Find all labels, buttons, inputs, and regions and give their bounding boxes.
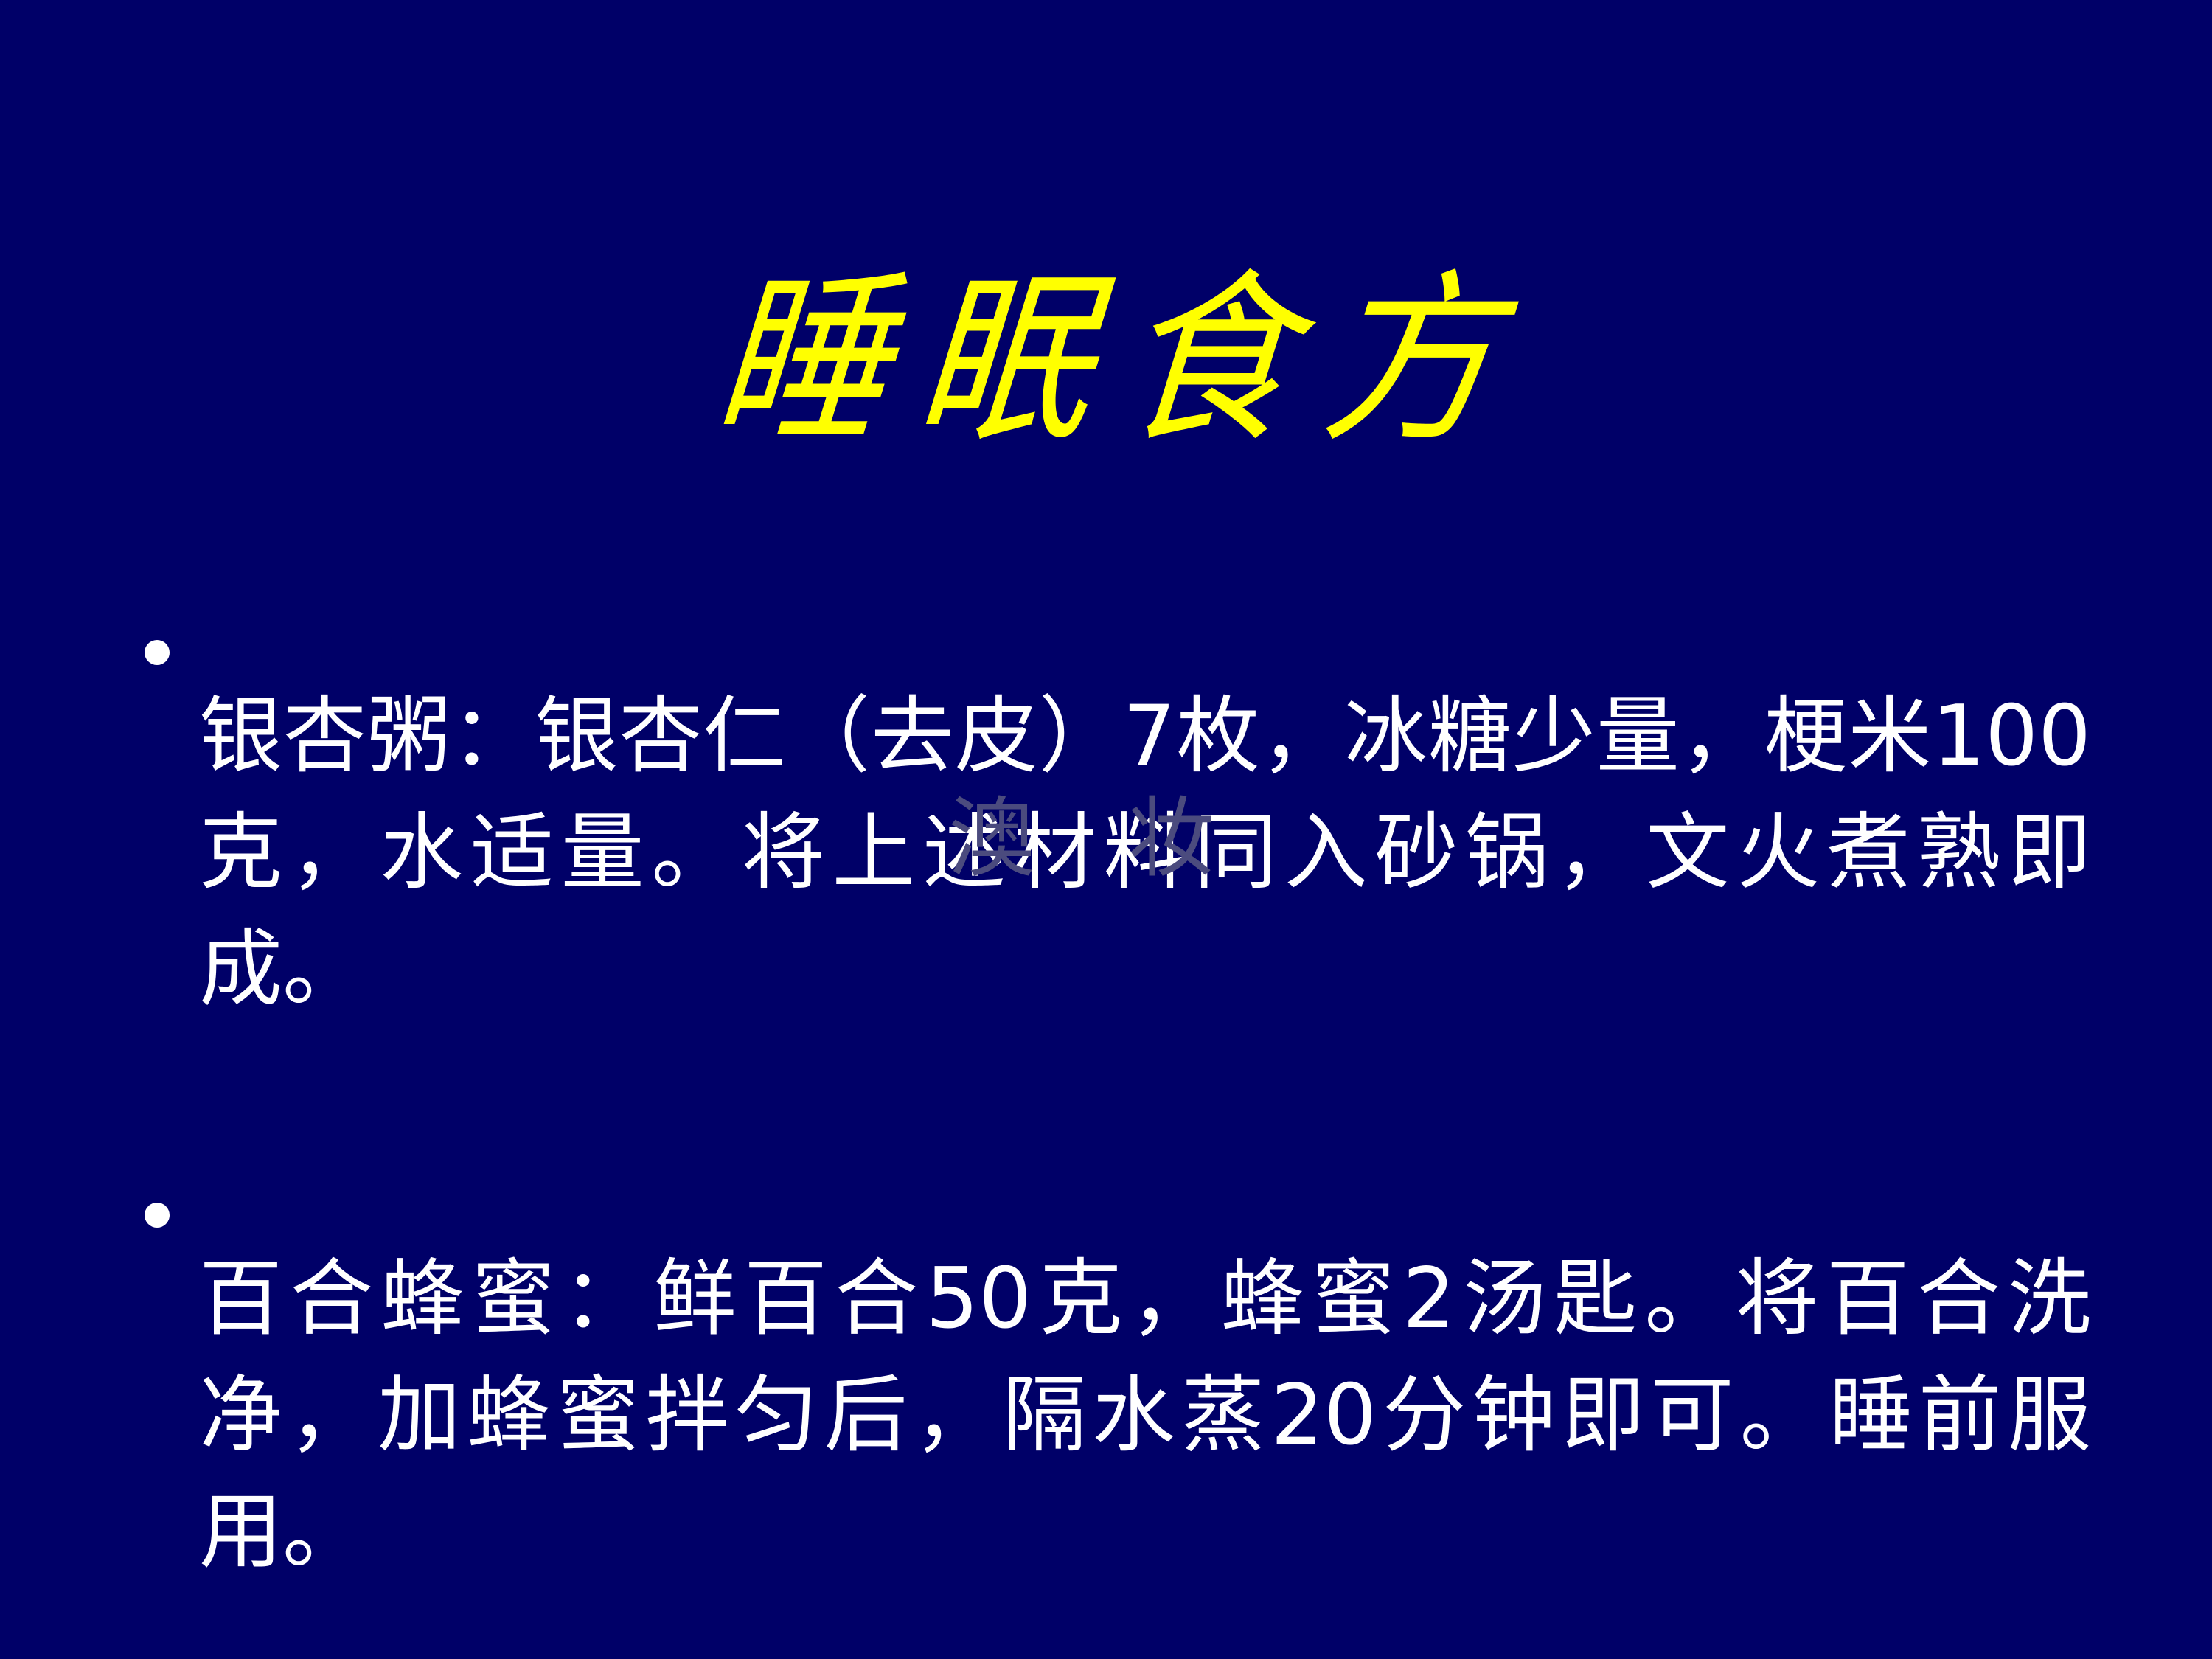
list-item-text: 银杏粥：银杏仁（去皮）7枚，冰糖少量，梗米100克，水适量。将上述材料同入砂锅，… (199, 678, 2091, 1028)
slide-body: 银杏粥：银杏仁（去皮）7枚，冰糖少量，梗米100克，水适量。将上述材料同入砂锅，… (145, 594, 2091, 1659)
list-item: 百合蜂蜜：鲜百合50克，蜂蜜2汤匙。将百合洗净，加蜂蜜拌匀后，隔水蒸20分钟即可… (145, 1157, 2091, 1659)
slide-title-container: 睡眠食方 (0, 155, 2212, 569)
list-item-text: 百合蜂蜜：鲜百合50克，蜂蜜2汤匙。将百合洗净，加蜂蜜拌匀后，隔水蒸20分钟即可… (199, 1240, 2091, 1590)
bullet-circle-icon (145, 1203, 170, 1228)
presentation-slide: 睡眠食方 银杏粥：银杏仁（去皮）7枚，冰糖少量，梗米100克，水适量。将上述材料… (0, 0, 2212, 1659)
page-title: 睡眠食方 (679, 265, 1533, 459)
list-item: 银杏粥：银杏仁（去皮）7枚，冰糖少量，梗米100克，水适量。将上述材料同入砂锅，… (145, 594, 2091, 1111)
bullet-circle-icon (145, 640, 170, 665)
